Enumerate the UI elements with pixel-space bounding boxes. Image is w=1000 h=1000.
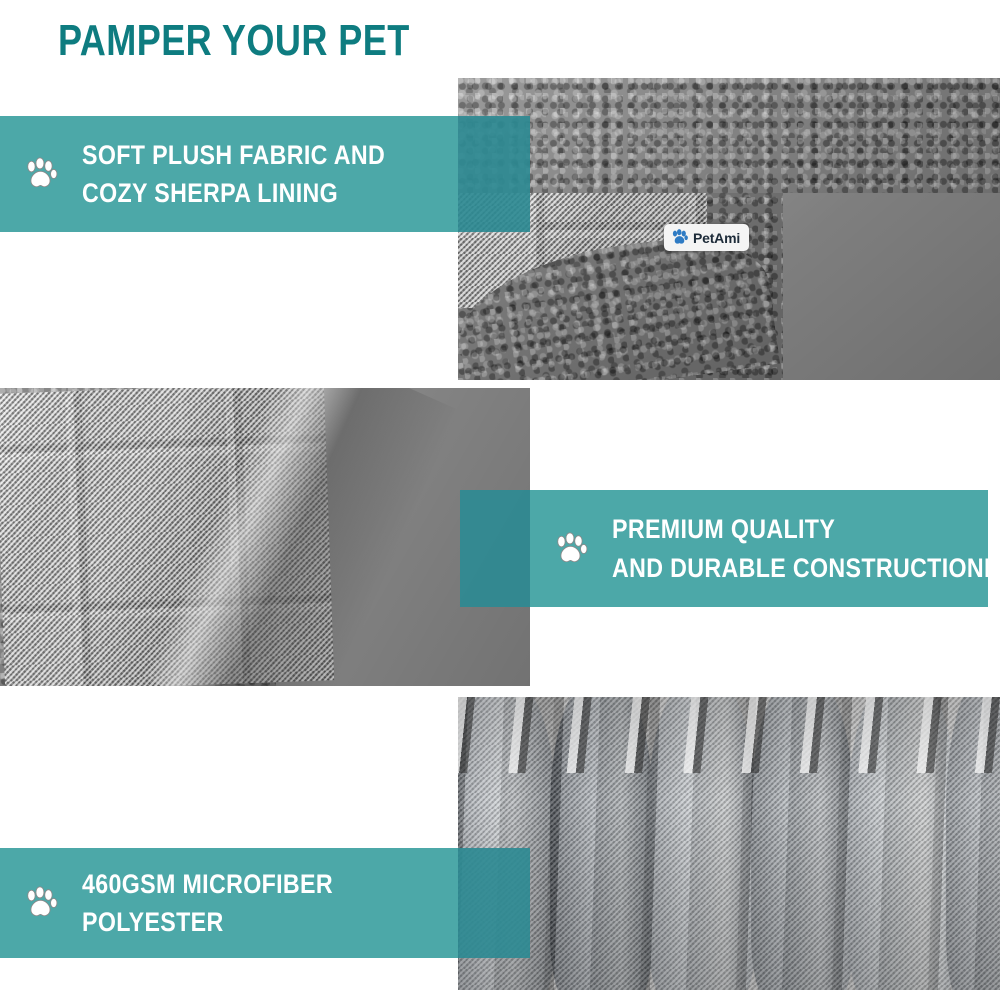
feature-banner-3-content: 460GSM MICROFIBER POLYESTER [24, 865, 374, 942]
paw-icon [554, 532, 588, 566]
feature-banner-2-content: PREMIUM QUALITY AND DURABLE CONSTRUCTION… [554, 510, 1000, 587]
feature-1-line-1: SOFT PLUSH FABRIC AND [82, 140, 385, 170]
feature-banner-2-text: PREMIUM QUALITY AND DURABLE CONSTRUCTION… [612, 510, 991, 587]
paw-icon [24, 886, 58, 920]
feature-banner-1: SOFT PLUSH FABRIC AND COZY SHERPA LINING [0, 116, 458, 232]
petami-brand-label: PetAmi [664, 224, 749, 251]
feature-banner-2: PREMIUM QUALITY AND DURABLE CONSTRUCTION… [530, 490, 988, 607]
feature-banner-1-text: SOFT PLUSH FABRIC AND COZY SHERPA LINING [82, 136, 385, 213]
blanket-folded-corner-photo: PetAmi [458, 78, 1000, 380]
paw-icon [24, 157, 58, 191]
photo-fabric-texture [0, 388, 530, 686]
feature-2-line-2: AND DURABLE CONSTRUCTIONI [612, 549, 991, 587]
infographic-canvas: PAMPER YOUR PET PetAmi [0, 0, 1000, 1000]
blanket-plaid-and-sherpa-photo [0, 388, 530, 686]
blanket-draped-folds-photo [458, 697, 1000, 990]
petami-brand-name: PetAmi [693, 231, 740, 245]
feature-3-line-1: 460GSM MICROFIBER [82, 869, 333, 899]
feature-1-line-2: COZY SHERPA LINING [82, 174, 385, 212]
feature-banner-2-overlap [460, 490, 530, 607]
feature-banner-1-overlap [458, 116, 530, 232]
photo-shading [0, 388, 530, 686]
feature-banner-3-text: 460GSM MICROFIBER POLYESTER [82, 865, 333, 942]
feature-3-line-2: POLYESTER [82, 903, 333, 941]
feature-banner-1-content: SOFT PLUSH FABRIC AND COZY SHERPA LINING [24, 136, 434, 213]
feature-banner-3-overlap [458, 848, 530, 958]
page-title: PAMPER YOUR PET [58, 18, 410, 64]
photo-fabric-texture [458, 697, 1000, 990]
paw-icon [671, 229, 688, 246]
photo-shading [458, 697, 1000, 990]
feature-banner-3: 460GSM MICROFIBER POLYESTER [0, 848, 458, 958]
feature-2-line-1: PREMIUM QUALITY [612, 514, 835, 544]
